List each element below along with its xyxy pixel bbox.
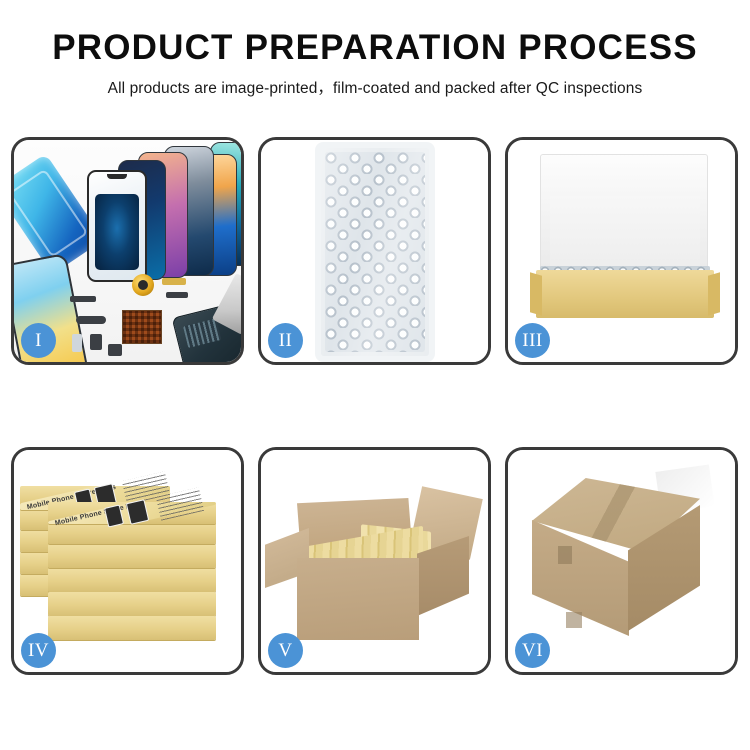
- part-coil-icon: [132, 274, 154, 296]
- process-step-panel-2: II: [258, 137, 491, 365]
- part-sim-tray: [72, 334, 82, 352]
- stacked-box-11: [48, 616, 216, 640]
- box-stack: Mobile Phone Spare Parts Mobile Phone Sp…: [20, 470, 234, 660]
- step-badge-4: IV: [21, 633, 56, 668]
- page-title: PRODUCT PREPARATION PROCESS: [0, 30, 750, 67]
- step-badge-1: I: [21, 323, 56, 358]
- part-connector: [162, 278, 186, 285]
- stacked-box-10: [48, 592, 216, 616]
- carton-seam-lower: [566, 612, 582, 628]
- carton-front-face: [297, 558, 419, 640]
- header: PRODUCT PREPARATION PROCESS All products…: [0, 0, 750, 98]
- process-step-panel-3: III: [505, 137, 738, 365]
- plastic-sheen: [321, 148, 429, 356]
- step-badge-3: III: [515, 323, 550, 358]
- part-flex-cable: [76, 316, 106, 324]
- stacked-box-9: [48, 568, 216, 592]
- carton-seam-upper: [558, 546, 572, 564]
- process-step-panel-1: I: [11, 137, 244, 365]
- part-speaker: [70, 296, 96, 302]
- part-camera: [108, 344, 122, 356]
- part-button: [90, 334, 102, 350]
- bubble-wrap-pouch: [321, 148, 429, 356]
- box-lid-inner: [550, 196, 700, 272]
- part-chip-array: [122, 310, 162, 344]
- process-step-panel-5: V: [258, 447, 491, 675]
- tempered-glass-icon: [87, 170, 147, 282]
- glass-artwork: [95, 194, 139, 270]
- step-badge-5: V: [268, 633, 303, 668]
- process-step-panel-4: Mobile Phone Spare Parts Mobile Phone Sp…: [11, 447, 244, 675]
- page-subtitle: All products are image-printed，film-coat…: [0, 76, 750, 98]
- process-step-panel-6: VI: [505, 447, 738, 675]
- box-tray: [536, 270, 714, 318]
- process-step-grid: I II III: [11, 137, 739, 675]
- stacked-box-8: [48, 544, 216, 568]
- step-badge-6: VI: [515, 633, 550, 668]
- product-preparation-infographic: PRODUCT PREPARATION PROCESS All products…: [0, 0, 750, 750]
- spare-parts-group: [70, 272, 241, 362]
- part-ribbon: [166, 292, 188, 298]
- step-badge-2: II: [268, 323, 303, 358]
